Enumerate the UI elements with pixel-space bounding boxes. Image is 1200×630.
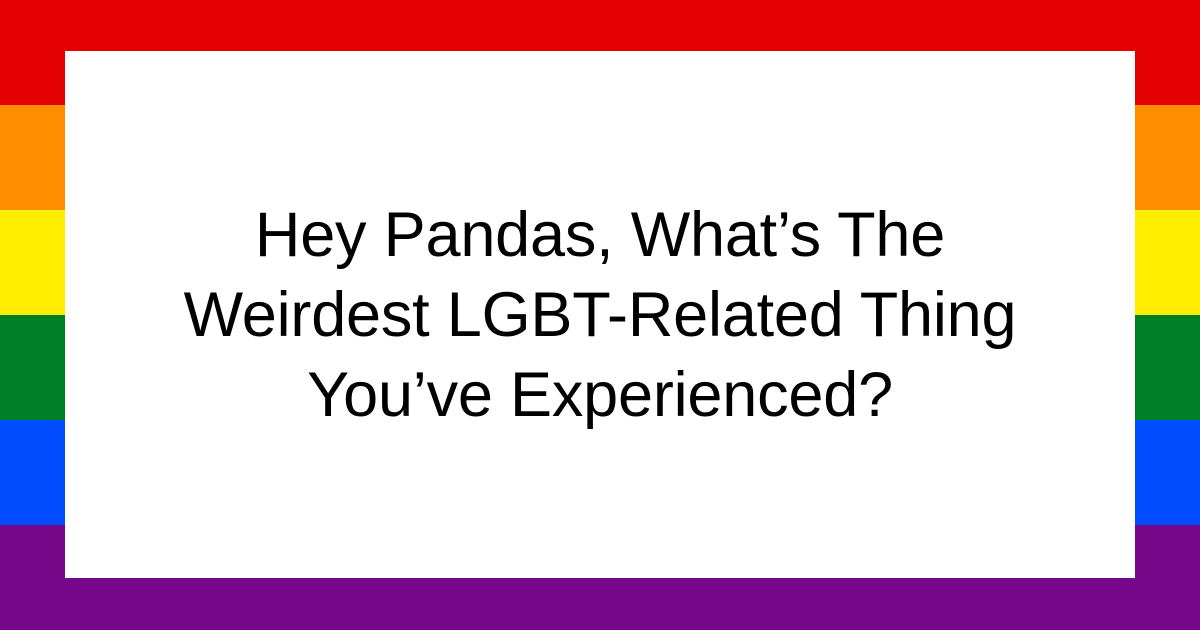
pride-share-card: Hey Pandas, What’s The Weirdest LGBT-Rel… bbox=[0, 0, 1200, 630]
page-title: Hey Pandas, What’s The Weirdest LGBT-Rel… bbox=[180, 195, 1020, 435]
white-content-card: Hey Pandas, What’s The Weirdest LGBT-Rel… bbox=[65, 51, 1135, 578]
